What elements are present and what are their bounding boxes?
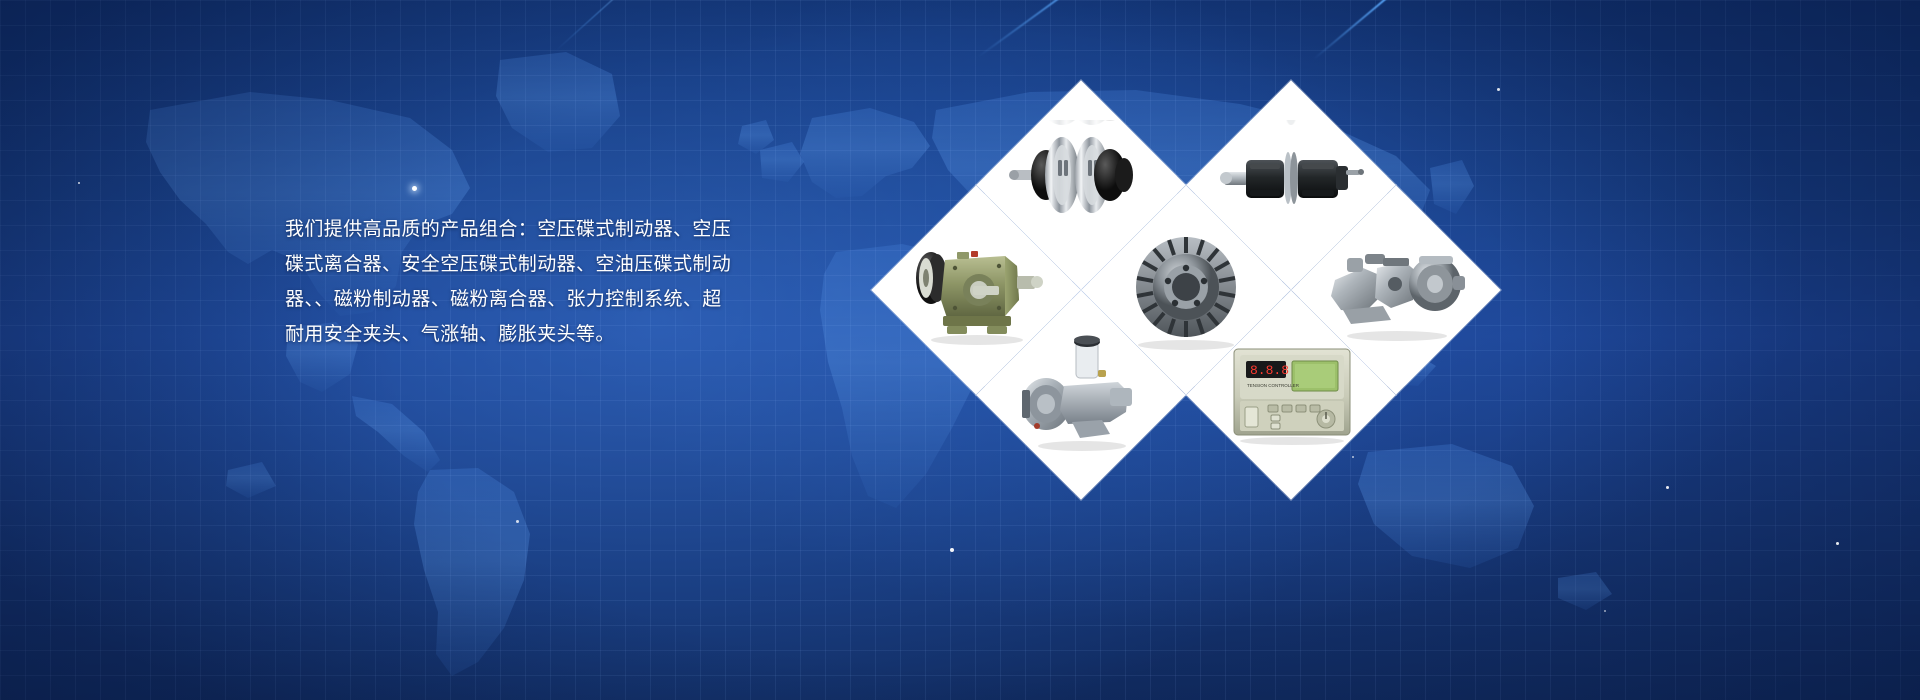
description-line-2: 碟式离合器、安全空压碟式制动器、空油压碟式制动 (285, 247, 763, 282)
product-diamond-grid: 8.8.8.8 TENSION CONTROLLER (880, 138, 1260, 444)
svg-text:TENSION CONTROLLER: TENSION CONTROLLER (1247, 383, 1300, 388)
star-icon (1497, 88, 1500, 91)
master-cylinder-icon (1006, 330, 1156, 460)
banner-description: 我们提供高品质的产品组合：空压碟式制动器、空压 碟式离合器、安全空压碟式制动器、… (285, 212, 763, 352)
tension-controller-panel-icon: 8.8.8.8 TENSION CONTROLLER (1216, 335, 1366, 455)
star-icon (1836, 542, 1839, 545)
star-icon (516, 520, 519, 523)
shaft-clutch-unit-icon (1216, 120, 1366, 250)
pneumatic-disc-brake-icon (1006, 120, 1156, 250)
star-icon (1604, 610, 1606, 612)
star-icon (950, 548, 954, 552)
star-icon (1666, 486, 1669, 489)
description-line-1: 我们提供高品质的产品组合：空压碟式制动器、空压 (285, 212, 763, 247)
star-icon (1352, 456, 1354, 458)
hero-banner: 我们提供高品质的产品组合：空压碟式制动器、空压 碟式离合器、安全空压碟式制动器、… (0, 0, 1920, 700)
star-icon (78, 182, 80, 184)
description-line-3: 器、、磁粉制动器、磁粉离合器、张力控制系统、超 (285, 282, 763, 317)
description-line-4: 耐用安全夹头、气涨轴、膨胀夹头等。 (285, 317, 763, 352)
star-icon (412, 186, 417, 191)
worm-gear-reducer-icon (901, 230, 1051, 350)
caliper-brake-icon (1321, 228, 1471, 353)
magnetic-particle-brake-icon (1111, 225, 1261, 355)
